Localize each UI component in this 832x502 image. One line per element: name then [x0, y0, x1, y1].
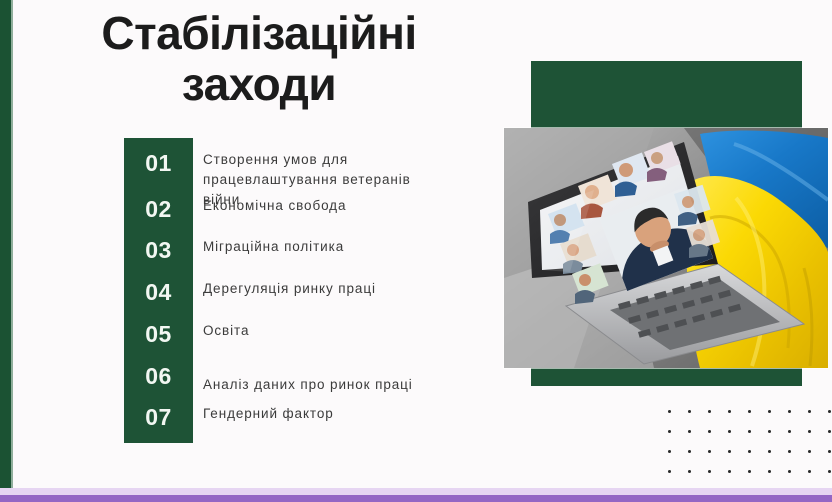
dot-pattern: [668, 410, 832, 486]
dot: [688, 470, 691, 473]
dot: [768, 470, 771, 473]
list-item-number: 04: [124, 279, 193, 306]
dot: [768, 430, 771, 433]
dot: [668, 450, 671, 453]
list-item: 07 Гендерний фактор: [124, 404, 484, 431]
left-accent-bar: [0, 0, 11, 502]
dot: [668, 470, 671, 473]
dot: [788, 450, 791, 453]
dot: [828, 470, 831, 473]
dot: [788, 470, 791, 473]
list-item: 04 Дерегуляція ринку праці: [124, 279, 484, 306]
list-item-number: 03: [124, 237, 193, 264]
list-item: 02 Економічна свобода: [124, 196, 484, 223]
list-item-number: 06: [124, 363, 193, 390]
list-item-label: Економічна свобода: [193, 196, 484, 216]
dot: [708, 470, 711, 473]
dot: [748, 430, 751, 433]
dot: [808, 470, 811, 473]
list-item: 03 Міграційна політика: [124, 237, 484, 264]
list-item-label: Дерегуляція ринку праці: [193, 279, 484, 299]
list-item-label: Міграційна політика: [193, 237, 484, 257]
dot: [748, 470, 751, 473]
list-item: 05 Освіта: [124, 321, 484, 348]
dot: [688, 410, 691, 413]
list-item-number: 01: [124, 150, 193, 177]
list-item-label: Освіта: [193, 321, 484, 341]
page-title: Стабілізаційні заходи: [74, 8, 444, 110]
dot: [788, 430, 791, 433]
presentation-slide: Стабілізаційні заходи: [0, 0, 832, 502]
dot: [828, 430, 831, 433]
dot: [808, 410, 811, 413]
list-item-number: 02: [124, 196, 193, 223]
dot: [668, 430, 671, 433]
list-item-number: 05: [124, 321, 193, 348]
dot: [708, 430, 711, 433]
conference-photo: [504, 128, 828, 368]
bottom-band-lavender: [0, 488, 832, 495]
dot: [808, 430, 811, 433]
dot: [828, 410, 831, 413]
list-item: 06 Аналіз даних про ринок праці: [124, 363, 484, 395]
dot: [728, 410, 731, 413]
dot: [688, 450, 691, 453]
dot: [748, 450, 751, 453]
dot: [768, 450, 771, 453]
dot: [728, 430, 731, 433]
dot: [668, 410, 671, 413]
list-item-label: Аналіз даних про ринок праці: [193, 363, 484, 395]
dot: [788, 410, 791, 413]
list-item-label: Гендерний фактор: [193, 404, 484, 424]
photo-illustration: [504, 128, 828, 368]
dot: [828, 450, 831, 453]
dot: [708, 450, 711, 453]
list-item-number: 07: [124, 404, 193, 431]
numbered-list: 01 Створення умов для працевлаштування в…: [124, 138, 484, 443]
dot: [728, 450, 731, 453]
bottom-band-purple: [0, 495, 832, 502]
dot: [748, 410, 751, 413]
dot: [708, 410, 711, 413]
left-accent-hairline: [11, 0, 13, 502]
dot: [728, 470, 731, 473]
dot: [688, 430, 691, 433]
dot: [808, 450, 811, 453]
dot: [768, 410, 771, 413]
